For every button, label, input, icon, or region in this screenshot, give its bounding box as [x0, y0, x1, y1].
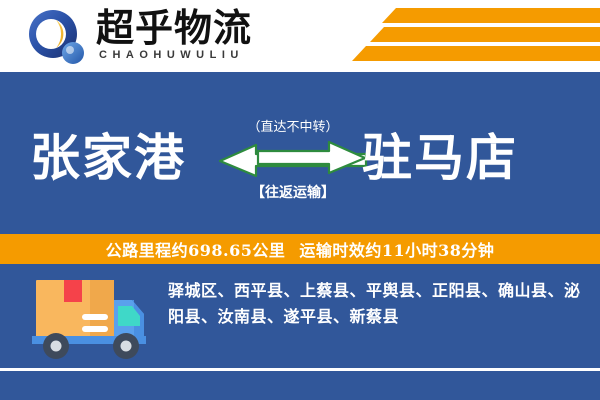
banner-header: 超乎物流 CHAOHUWULIU: [0, 0, 600, 72]
route-arrow-block: （直达不中转） 【往返运输】: [218, 116, 368, 236]
orange-speed-stripes-icon: [370, 27, 600, 42]
route-row: 张家港 （直达不中转） 【往返运输】 驻马店: [0, 122, 600, 232]
coverage-area-list: 驿城区、西平县、上蔡县、平舆县、正阳县、确山县、泌阳县、汝南县、遂平县、新蔡县: [168, 278, 586, 330]
delivery-truck-icon: [28, 274, 154, 371]
brand-name-en: CHAOHUWULIU: [99, 49, 244, 61]
duration-value: 运输时效约11小时38分钟: [299, 241, 494, 260]
roundtrip-note: 【往返运输】: [218, 182, 368, 202]
route-info-text: 公路里程约698.65公里运输时效约11小时38分钟: [106, 237, 495, 261]
double-headed-arrow-icon: [218, 140, 368, 183]
bottom-divider: [0, 368, 600, 371]
direct-transport-note: （直达不中转）: [218, 116, 368, 135]
distance-value: 公路里程约698.65公里: [106, 241, 286, 260]
banner-body: 张家港 （直达不中转） 【往返运输】 驻马店 公路里程约698.65公里运输时效…: [0, 72, 600, 400]
brand-name-cn: 超乎物流: [96, 6, 252, 50]
logistics-route-banner: 超乎物流 CHAOHUWULIU 张家港 （直达不中转） 【往返运输】 驻马: [0, 0, 600, 400]
origin-city: 张家港: [30, 122, 186, 194]
destination-city: 驻马店: [362, 122, 518, 194]
circle-crescent-logo-icon: [26, 8, 88, 66]
orange-speed-stripes-icon: [352, 46, 600, 61]
orange-speed-stripes-icon: [382, 8, 600, 23]
route-info-bar: 公路里程约698.65公里运输时效约11小时38分钟: [0, 234, 600, 264]
